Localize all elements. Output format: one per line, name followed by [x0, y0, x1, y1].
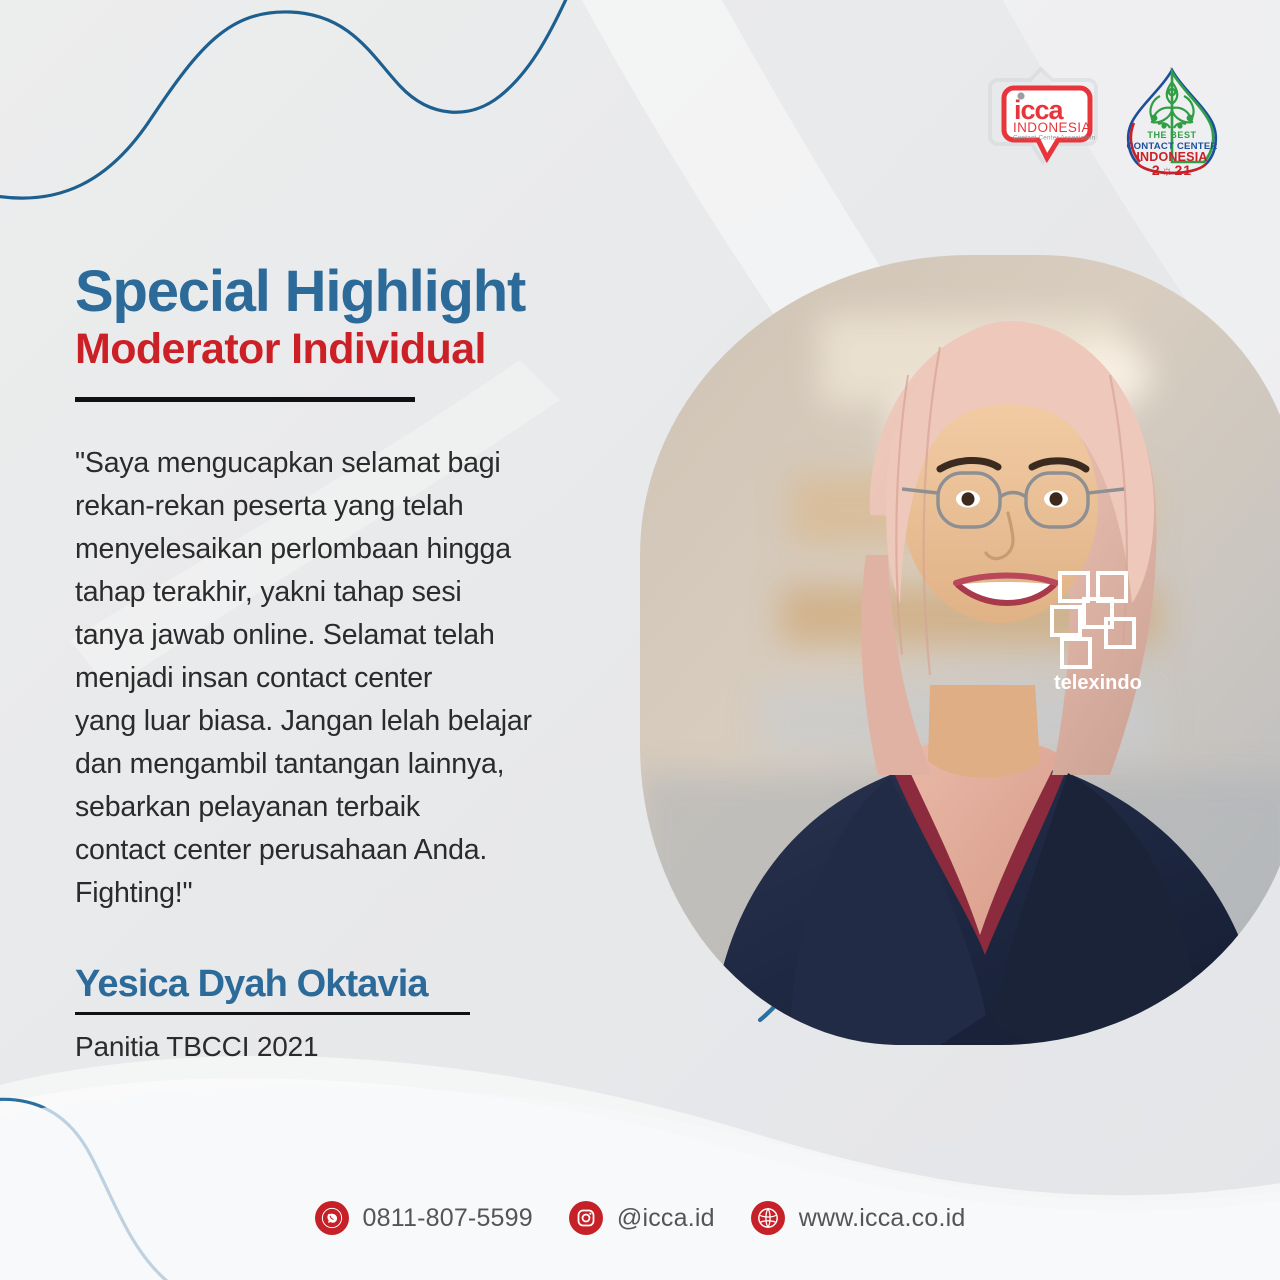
page-subtitle: Moderator Individual	[75, 325, 685, 374]
footer-contact-bar: 0811-807-5599 @icca.id www.icca.co.id	[0, 1201, 1280, 1235]
globe-icon[interactable]	[751, 1201, 785, 1235]
contact-website[interactable]: www.icca.co.id	[751, 1201, 966, 1235]
quote-text: "Saya mengucapkan selamat bagi rekan-rek…	[75, 442, 685, 915]
whatsapp-icon[interactable]	[315, 1201, 349, 1235]
contact-whatsapp[interactable]: 0811-807-5599	[315, 1201, 533, 1235]
page-title: Special Highlight	[75, 262, 685, 321]
tbcci-badge: THE BEST CONTACT CENTER INDONESIA 2☼21	[1120, 66, 1224, 178]
logo-row: icca INDONESIA Contact Center Associatio…	[984, 66, 1224, 178]
instagram-icon[interactable]	[569, 1201, 603, 1235]
badge-line-4: 2☼21	[1152, 162, 1192, 178]
title-divider	[75, 397, 415, 402]
icca-logo: icca INDONESIA Contact Center Associatio…	[984, 66, 1102, 170]
contact-instagram[interactable]: @icca.id	[569, 1201, 715, 1235]
icca-tagline: Contact Center Association	[1013, 135, 1096, 142]
icca-country: INDONESIA	[1013, 120, 1091, 135]
content-column: Special Highlight Moderator Individual "…	[75, 262, 685, 1063]
website-url: www.icca.co.id	[799, 1204, 966, 1233]
speaker-name: Yesica Dyah Oktavia	[75, 963, 685, 1006]
speaker-name-rule	[75, 1012, 470, 1015]
speaker-photo: telexindo	[640, 255, 1280, 1045]
svg-text:telexindo: telexindo	[1054, 672, 1142, 694]
badge-line-1: THE BEST	[1147, 130, 1196, 140]
whatsapp-number: 0811-807-5599	[363, 1204, 533, 1233]
speaker-role: Panitia TBCCI 2021	[75, 1031, 685, 1063]
instagram-handle: @icca.id	[617, 1204, 715, 1233]
